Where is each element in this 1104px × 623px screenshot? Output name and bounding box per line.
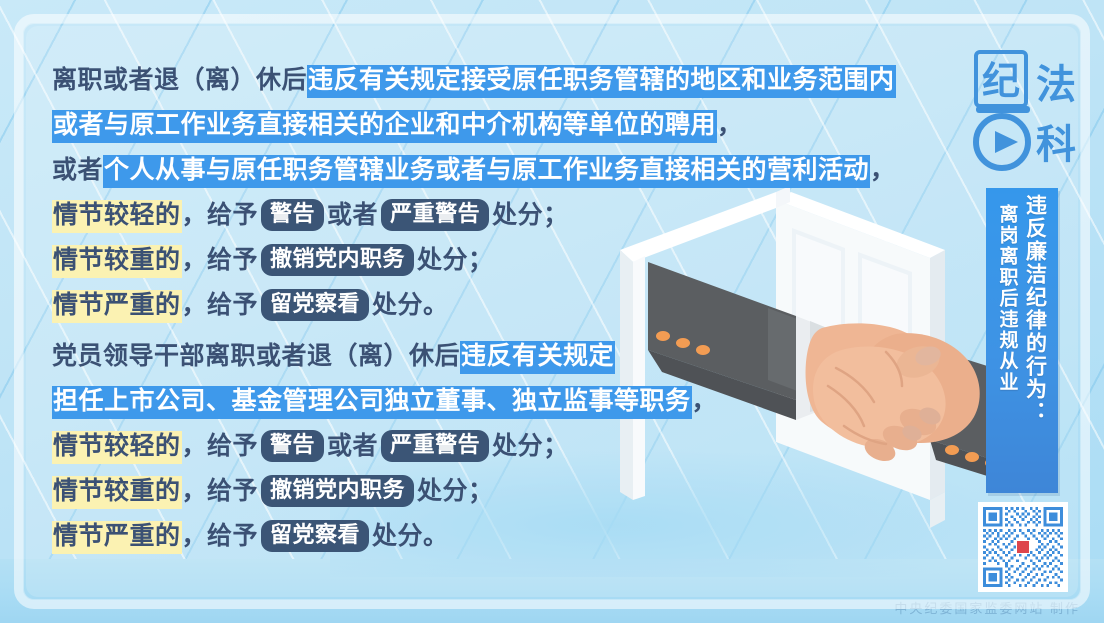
plain-text: ， bbox=[717, 112, 743, 139]
play-triangle-icon bbox=[995, 131, 1018, 153]
text-line: 情节较重的，给予撤销党内职务处分； bbox=[52, 238, 812, 283]
penalty-pill[interactable]: 留党察看 bbox=[261, 520, 369, 552]
highlight-blue: 担任上市公司、基金管理公司独立董事、独立监事等职务 bbox=[52, 386, 692, 419]
plain-text: ，给予 bbox=[182, 433, 259, 460]
plain-text: 处分。 bbox=[372, 292, 449, 319]
highlight-yellow: 情节较重的 bbox=[52, 476, 182, 509]
paragraph-1: 离职或者退（离）休后违反有关规定接受原任职务管辖的地区和业务范围内或者与原工作业… bbox=[52, 58, 812, 328]
highlight-yellow: 情节严重的 bbox=[52, 290, 182, 323]
highlight-yellow: 情节严重的 bbox=[52, 521, 182, 554]
plain-text: ， bbox=[870, 157, 896, 184]
plain-text: ，给予 bbox=[182, 247, 259, 274]
plain-text: ，给予 bbox=[182, 202, 259, 229]
highlight-blue: 违反有关规定接受原任职务管辖的地区和业务范围内 bbox=[307, 65, 896, 98]
penalty-pill[interactable]: 撤销党内职务 bbox=[261, 244, 414, 276]
logo-char-ji: 纪 bbox=[982, 61, 1020, 103]
plain-text: 或者 bbox=[52, 157, 103, 184]
text-line: 情节严重的，给予留党察看处分。 bbox=[52, 283, 812, 328]
plain-text: 处分； bbox=[492, 433, 569, 460]
text-line: 党员领导干部离职或者退（离）休后违反有关规定 bbox=[52, 334, 812, 379]
paragraph-2: 党员领导干部离职或者退（离）休后违反有关规定担任上市公司、基金管理公司独立董事、… bbox=[52, 334, 812, 559]
logo-char-ke: 科 bbox=[1036, 122, 1076, 167]
text-line: 情节较轻的，给予警告或者严重警告处分； bbox=[52, 193, 812, 238]
highlight-blue: 违反有关规定 bbox=[460, 341, 615, 374]
highlight-blue: 或者与原工作业务直接相关的企业和中介机构等单位的聘用 bbox=[52, 110, 717, 143]
plain-text: 处分； bbox=[492, 202, 569, 229]
plain-text: ， bbox=[692, 388, 718, 415]
text-line: 情节较重的，给予撤销党内职务处分； bbox=[52, 469, 812, 514]
penalty-pill[interactable]: 警告 bbox=[261, 199, 324, 231]
penalty-pill[interactable]: 留党察看 bbox=[261, 289, 369, 321]
penalty-pill[interactable]: 警告 bbox=[261, 430, 324, 462]
plain-text: 处分； bbox=[417, 247, 494, 274]
right-rail: 纪 法 科 违反廉洁纪律的行为： 离岗离职后违规从业 bbox=[954, 0, 1104, 623]
plain-text: 或者 bbox=[327, 433, 378, 460]
text-line: 担任上市公司、基金管理公司独立董事、独立监事等职务， bbox=[52, 379, 812, 424]
text-line: 或者个人从事与原任职务管辖业务或者与原工作业务直接相关的营利活动， bbox=[52, 148, 812, 193]
plain-text: ，给予 bbox=[182, 478, 259, 505]
plain-text: ，给予 bbox=[182, 292, 259, 319]
red-seal-logo bbox=[1017, 541, 1029, 553]
plain-text: 或者 bbox=[327, 202, 378, 229]
penalty-pill[interactable]: 严重警告 bbox=[381, 199, 489, 231]
highlight-yellow: 情节较重的 bbox=[52, 245, 182, 278]
text-line: 离职或者退（离）休后违反有关规定接受原任职务管辖的地区和业务范围内 bbox=[52, 58, 812, 103]
plain-text: ，给予 bbox=[182, 523, 259, 550]
banner-main-text: 违反廉洁纪律的行为： bbox=[1021, 194, 1051, 493]
qr-code[interactable] bbox=[978, 502, 1068, 592]
credit-text: 中央纪委国家监委网站 制作 bbox=[894, 598, 1080, 617]
text-line: 或者与原工作业务直接相关的企业和中介机构等单位的聘用， bbox=[52, 103, 812, 148]
highlight-yellow: 情节较轻的 bbox=[52, 431, 182, 464]
text-line: 情节严重的，给予留党察看处分。 bbox=[52, 514, 812, 559]
plain-text: 党员领导干部离职或者退（离）休后 bbox=[52, 343, 460, 370]
highlight-blue: 个人从事与原任职务管辖业务或者与原工作业务直接相关的营利活动 bbox=[103, 155, 870, 188]
plain-text: 处分； bbox=[417, 478, 494, 505]
penalty-pill[interactable]: 撤销党内职务 bbox=[261, 475, 414, 507]
text-line: 情节较轻的，给予警告或者严重警告处分； bbox=[52, 424, 812, 469]
vertical-banner: 违反廉洁纪律的行为： 离岗离职后违规从业 bbox=[986, 188, 1058, 493]
penalty-pill[interactable]: 严重警告 bbox=[381, 430, 489, 462]
main-text-column: 离职或者退（离）休后违反有关规定接受原任职务管辖的地区和业务范围内或者与原工作业… bbox=[52, 58, 812, 559]
jifa-baike-logo[interactable]: 纪 法 科 bbox=[972, 46, 1082, 178]
banner-sub-text: 离岗离职后违规从业 bbox=[994, 194, 1021, 493]
plain-text: 离职或者退（离）休后 bbox=[52, 67, 307, 94]
poster-canvas: 离职或者退（离）休后违反有关规定接受原任职务管辖的地区和业务范围内或者与原工作业… bbox=[0, 0, 1104, 623]
logo-char-fa: 法 bbox=[1036, 62, 1076, 107]
plain-text: 处分。 bbox=[372, 523, 449, 550]
highlight-yellow: 情节较轻的 bbox=[52, 200, 182, 233]
